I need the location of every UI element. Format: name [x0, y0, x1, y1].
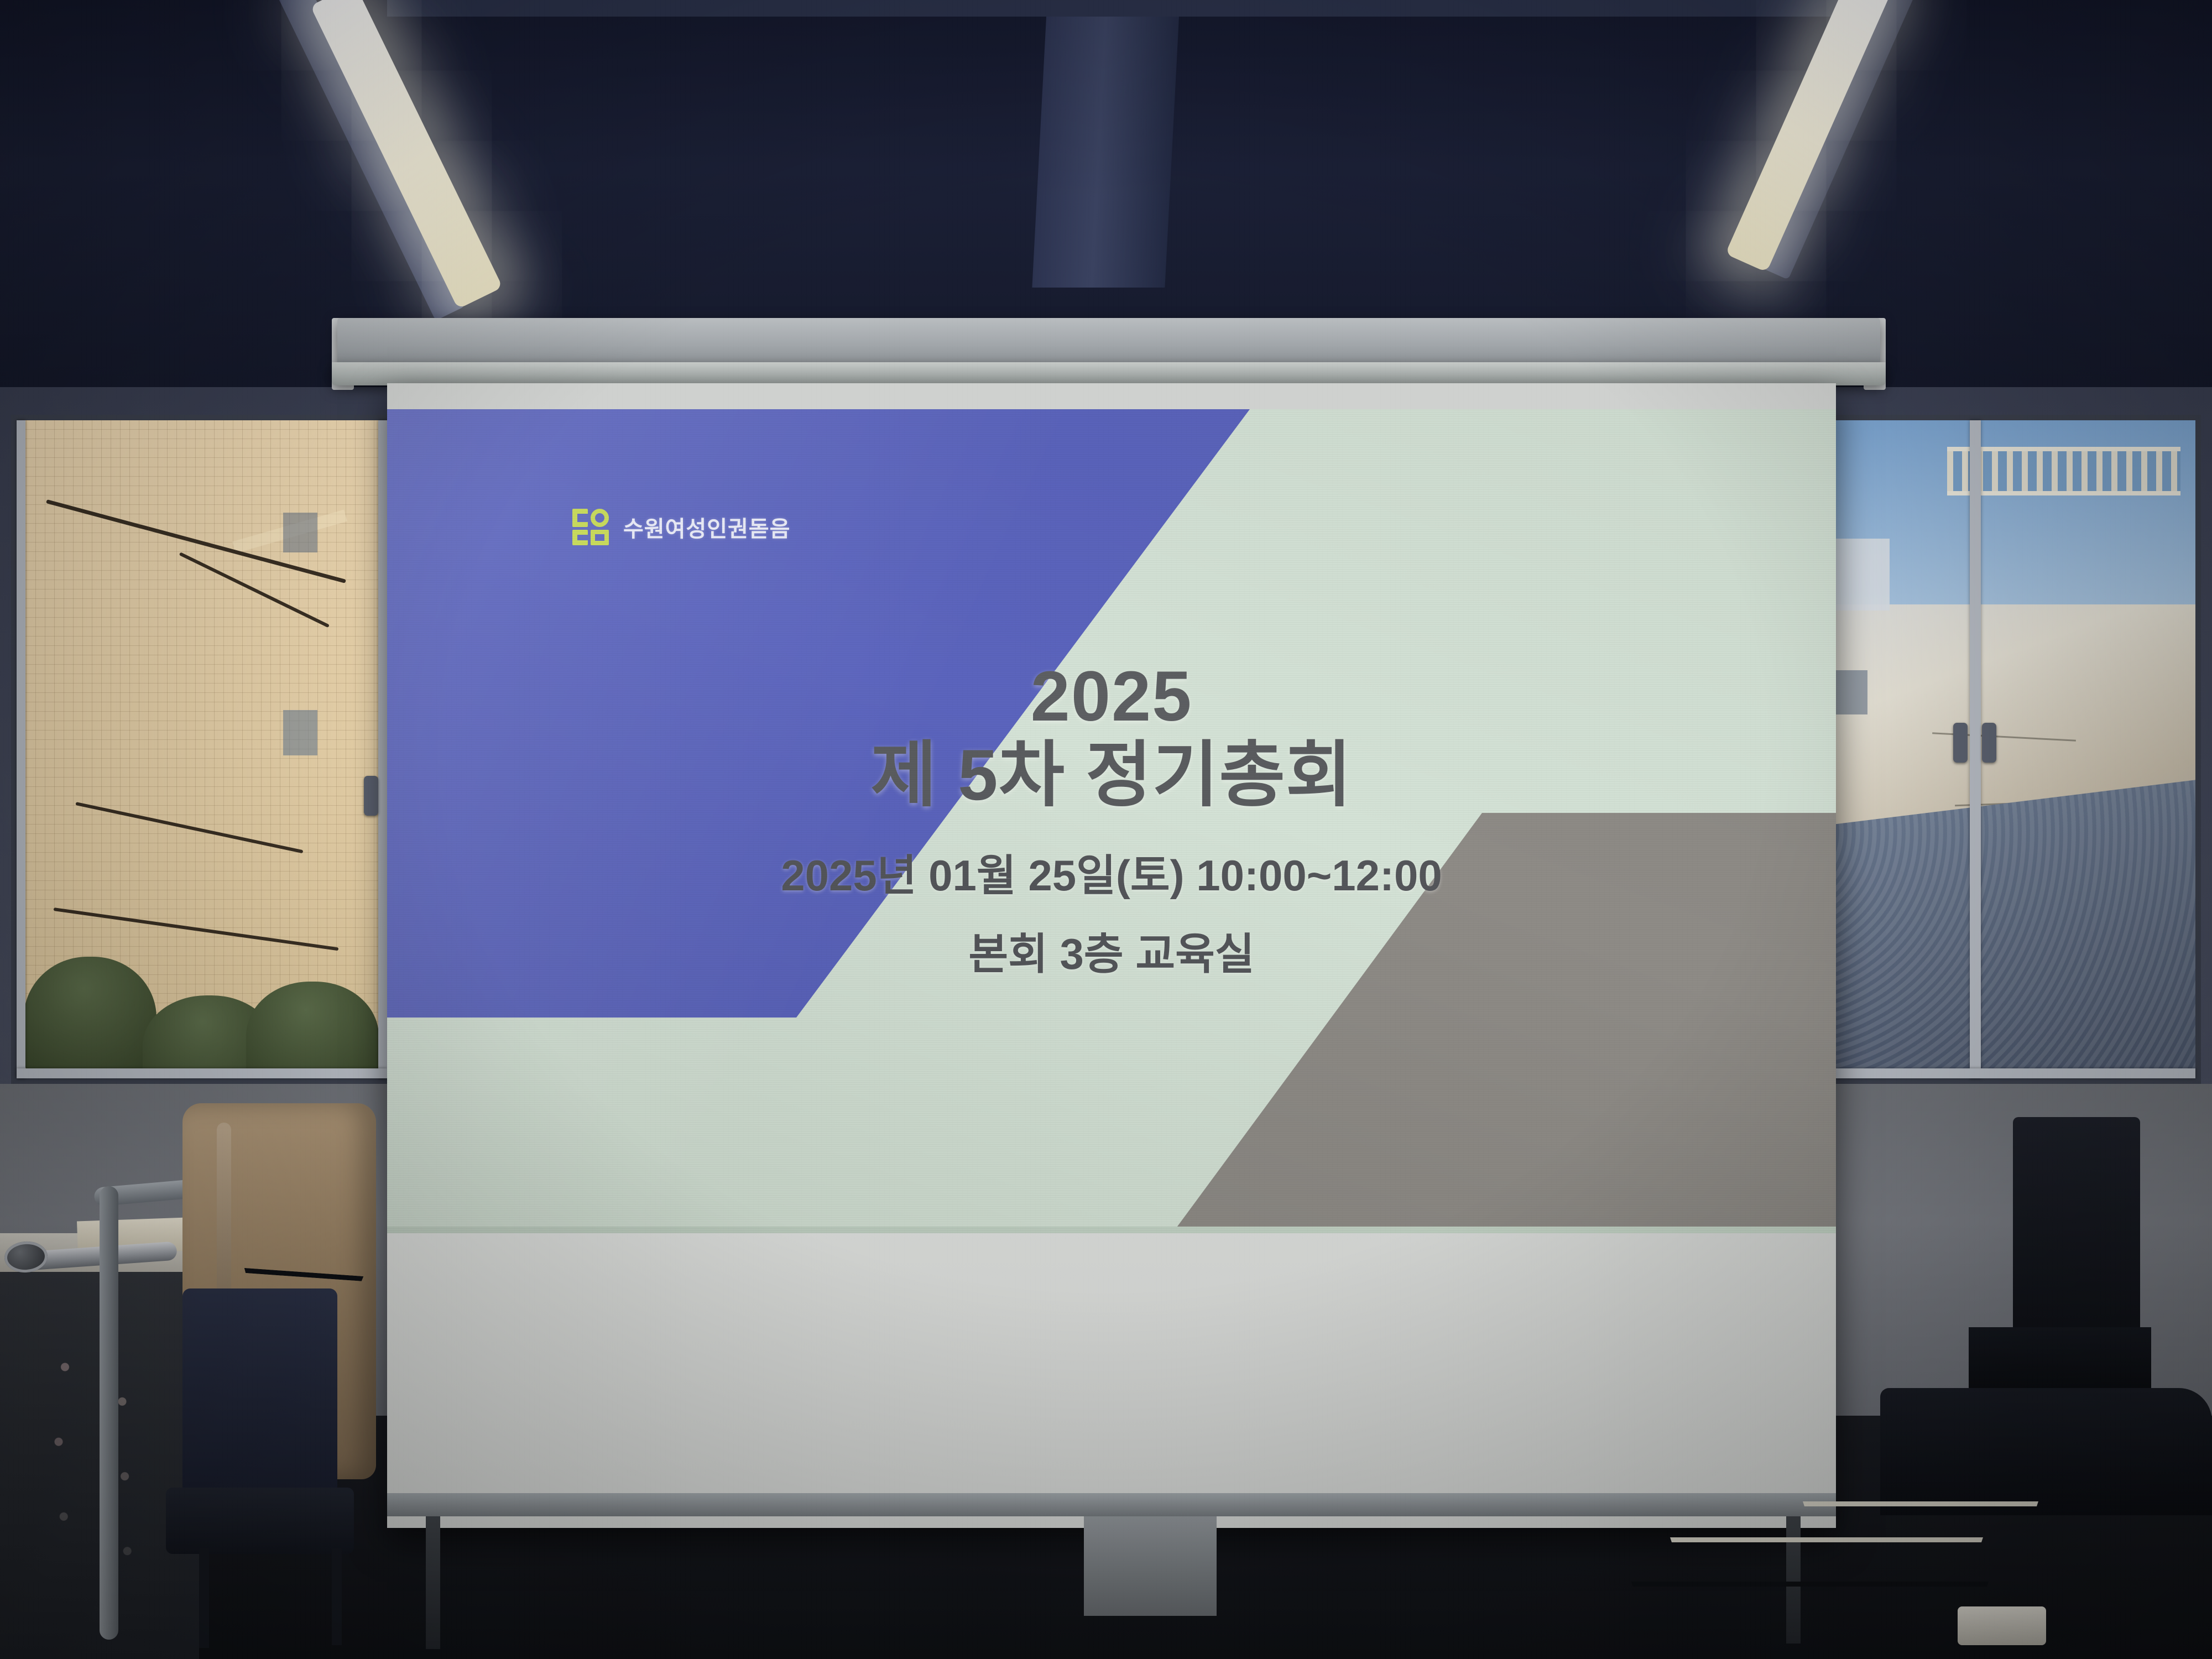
slide-year: 2025 — [1031, 661, 1193, 732]
window-mullion — [17, 420, 25, 1078]
slide-datetime: 2025년 01월 25일(토) 10:00~12:00 — [781, 841, 1442, 903]
table-skirt-pattern — [33, 1338, 160, 1626]
chair-leg — [199, 1548, 209, 1648]
slide-location: 본회 3층 교육실 — [968, 920, 1254, 982]
monitor-base — [1880, 1388, 2212, 1515]
window-right-pane — [1819, 420, 2195, 1078]
screen-valance — [337, 318, 1880, 368]
power-cable-black — [1631, 1582, 1989, 1655]
projected-slide: 수원여성인권돋음 2025 제 5차 정기총회 2025년 01월 25일(토)… — [387, 409, 1836, 1233]
ceiling-beam-horizontal — [387, 0, 1880, 17]
power-cable-white — [1803, 1501, 2038, 1569]
far-building-window — [1834, 670, 1867, 714]
chair-seat — [166, 1488, 354, 1554]
screen-weight-bar — [1084, 1516, 1217, 1616]
screen-leg-left — [426, 1516, 440, 1649]
monitor-stand — [1969, 1327, 2151, 1394]
window-handle[interactable] — [1982, 723, 1996, 763]
screen-bottom-bar — [387, 1493, 1836, 1516]
window-sill — [17, 1068, 387, 1078]
rooftop-railing — [1947, 447, 2180, 495]
screen-valance-lip — [332, 362, 1886, 385]
window-mullion — [1970, 420, 1981, 1078]
window-mullion — [378, 420, 387, 1078]
window-handle[interactable] — [364, 776, 378, 816]
screenshot-root: 수원여성인권돋음 2025 제 5차 정기총회 2025년 01월 25일(토)… — [0, 0, 2212, 1659]
window-left — [11, 415, 393, 1084]
slide-title: 제 5차 정기총회 — [870, 735, 1352, 815]
window-left-pane — [17, 420, 387, 1078]
shingled-roof — [1819, 773, 2195, 1078]
window-right — [1814, 415, 2201, 1084]
facade-window-upper — [283, 513, 317, 552]
window-handle[interactable] — [1953, 723, 1968, 763]
ceiling-beam-vertical — [1032, 0, 1180, 288]
facade-window-lower — [283, 710, 317, 755]
window-sill — [1819, 1068, 2195, 1078]
cart-handle-post — [100, 1186, 118, 1640]
chair-leg — [332, 1548, 342, 1645]
evergreen-shrub — [24, 957, 156, 1078]
slide-text-block: 2025 제 5차 정기총회 2025년 01월 25일(토) 10:00~12… — [387, 409, 1836, 1233]
